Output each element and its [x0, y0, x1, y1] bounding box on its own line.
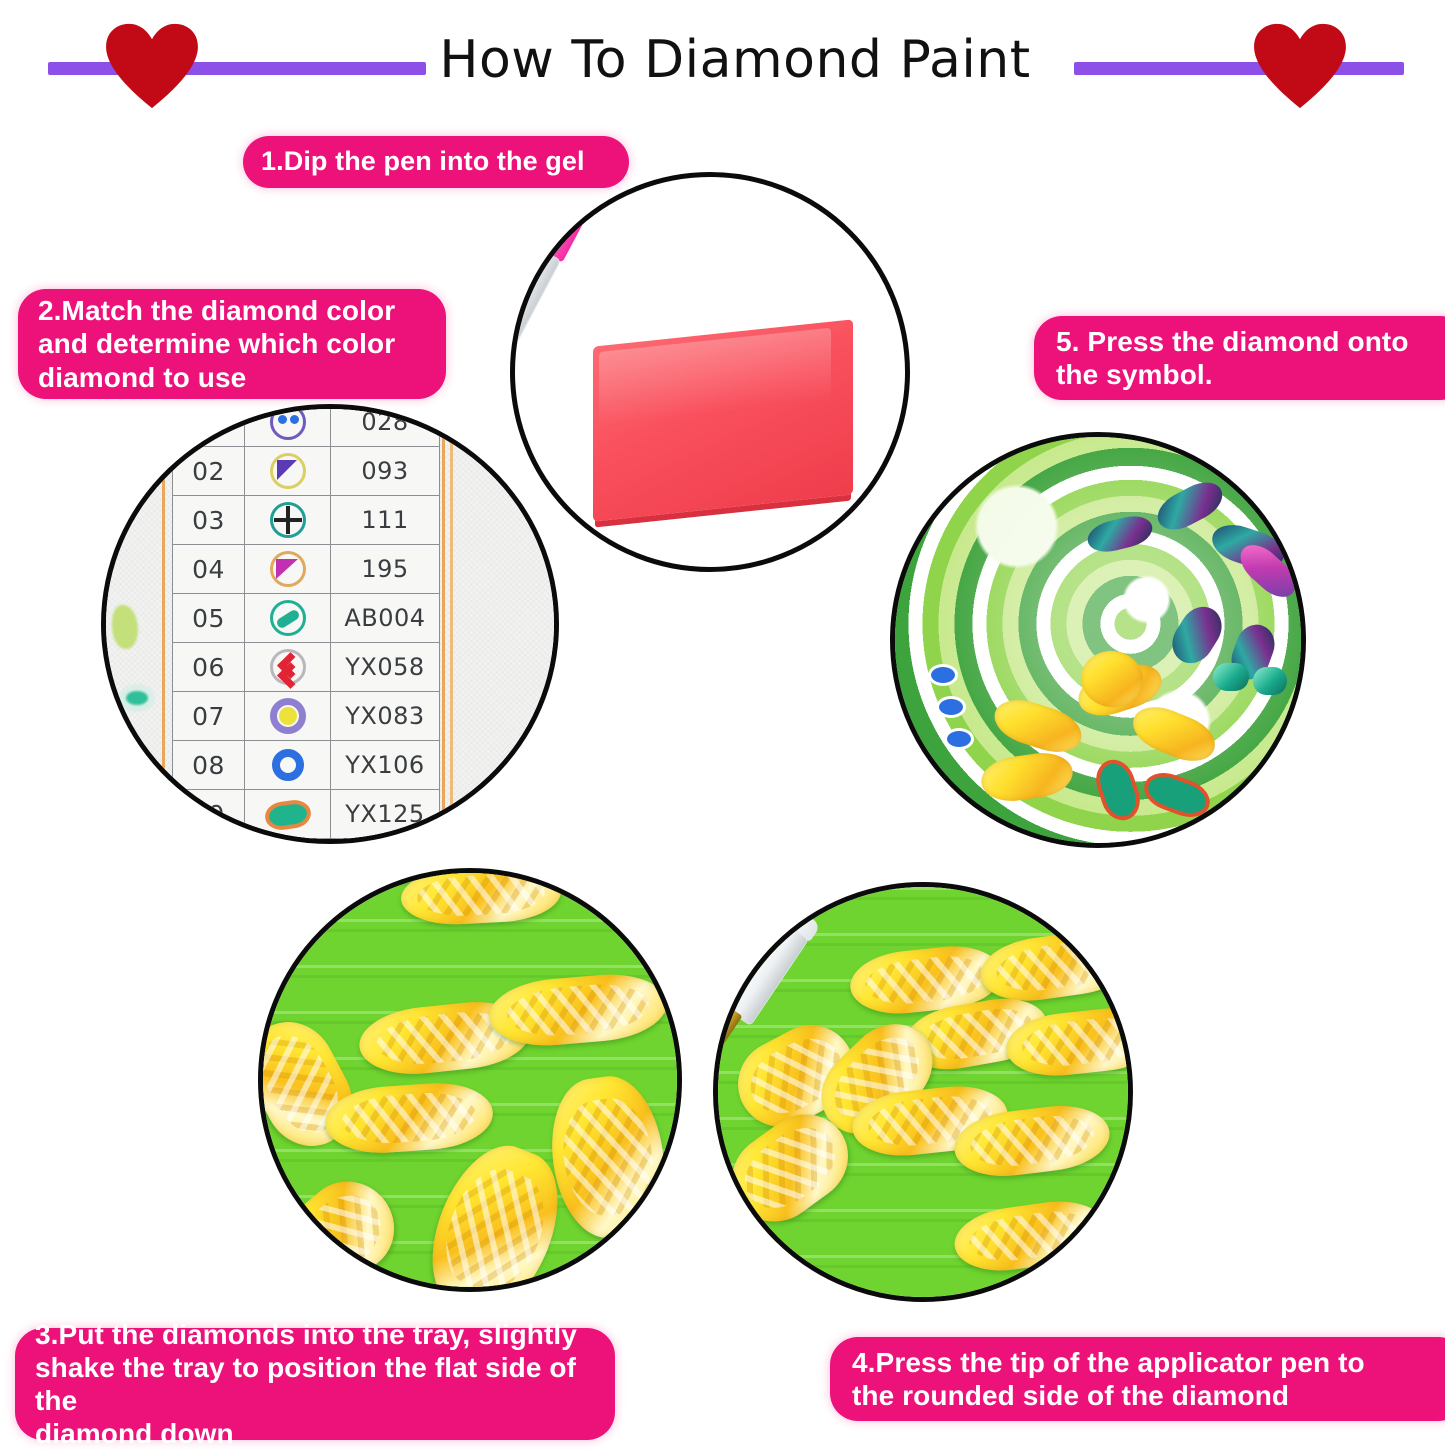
row-code: 093 [330, 447, 439, 496]
row-no: 09 [173, 790, 245, 839]
table-row: 04 195 [173, 545, 440, 594]
leaf-outline-icon [265, 791, 311, 837]
step-1-text: 1.Dip the pen into the gel [261, 146, 585, 178]
row-symbol [245, 839, 331, 845]
tray-photo [258, 868, 682, 1292]
infographic-canvas: How To Diamond Paint [0, 0, 1445, 1445]
donut-circle-icon [265, 742, 311, 788]
triangle-circle-icon [265, 448, 311, 494]
step-5-label: 5. Press the diamond onto the symbol. [1034, 316, 1445, 400]
row-no [173, 404, 245, 447]
step-4-text: 4.Press the tip of the applicator pen to… [852, 1346, 1365, 1412]
step-4-line-1: 4.Press the tip of the applicator pen to [852, 1346, 1365, 1379]
pill-circle-icon [265, 595, 311, 641]
row-code: YX058 [330, 643, 439, 692]
step-4-label: 4.Press the tip of the applicator pen to… [830, 1337, 1445, 1421]
row-symbol [245, 545, 331, 594]
step-4-line-2: the rounded side of the diamond [852, 1379, 1365, 1412]
row-symbol [245, 447, 331, 496]
applicator-pen [510, 172, 596, 404]
row-code: 028 [330, 404, 439, 447]
gel-photo [510, 172, 910, 572]
header-rule-right [1074, 62, 1404, 75]
table-row: 09 YX125 [173, 790, 440, 839]
row-symbol [245, 692, 331, 741]
placed-gem [1213, 663, 1249, 691]
placed-gem [1253, 667, 1287, 695]
symbol-photo [890, 432, 1306, 848]
partial-symbol-icon [265, 840, 311, 844]
color-code-table: 028 02 093 03 [172, 404, 440, 844]
step-2-line-1: 2.Match the diamond color [38, 294, 395, 327]
row-no: 08 [173, 741, 245, 790]
row-no: 06 [173, 643, 245, 692]
dot-in-ring-icon [265, 693, 311, 739]
step-3-line-3: diamond down [35, 1417, 595, 1450]
row-no: 03 [173, 496, 245, 545]
sheet-margin-line-left [162, 404, 165, 844]
table-row: 06 YX058 [173, 643, 440, 692]
step-5-text: 5. Press the diamond onto the symbol. [1056, 325, 1409, 391]
row-no: 05 [173, 594, 245, 643]
color-chart-photo: 028 02 093 03 [101, 404, 559, 844]
row-symbol [245, 404, 331, 447]
table-row [173, 839, 440, 845]
step-3-line-1: 3.Put the diamonds into the tray, slight… [35, 1318, 595, 1351]
table-row: 05 AB004 [173, 594, 440, 643]
step-2-line-2: and determine which color [38, 327, 395, 360]
step-5-line-2: the symbol. [1056, 358, 1409, 391]
gel-square [593, 319, 853, 521]
row-symbol [245, 496, 331, 545]
step-2-text: 2.Match the diamond color and determine … [38, 294, 395, 393]
row-no: 07 [173, 692, 245, 741]
row-no: 04 [173, 545, 245, 594]
canvas-print-blob-teal [120, 685, 154, 711]
row-symbol [245, 643, 331, 692]
page-title: How To Diamond Paint [410, 30, 1060, 90]
row-code: YX125 [330, 790, 439, 839]
row-code [330, 839, 439, 845]
plus-circle-icon [265, 497, 311, 543]
step-3-text: 3.Put the diamonds into the tray, slight… [35, 1318, 595, 1450]
row-code: YX106 [330, 741, 439, 790]
table-row: 07 YX083 [173, 692, 440, 741]
table-row: 08 YX106 [173, 741, 440, 790]
sheet-margin-line-right-2 [450, 404, 453, 844]
pen-tray-photo [713, 882, 1133, 1302]
row-code: YX083 [330, 692, 439, 741]
step-3-label: 3.Put the diamonds into the tray, slight… [15, 1328, 615, 1440]
table-row: 028 [173, 404, 440, 447]
table-row: 03 111 [173, 496, 440, 545]
step-2-line-3: diamond to use [38, 361, 395, 394]
row-code: AB004 [330, 594, 439, 643]
step-2-label: 2.Match the diamond color and determine … [18, 289, 446, 399]
heart-icon-right [1252, 22, 1348, 110]
row-symbol [245, 741, 331, 790]
chevron-circle-icon [265, 644, 311, 690]
double-dot-circle-icon [265, 404, 311, 445]
step-1-label: 1.Dip the pen into the gel [243, 136, 629, 188]
heart-icon-left [104, 22, 200, 110]
sheet-margin-line-right [442, 404, 445, 844]
color-code-table-body: 028 02 093 03 [173, 404, 440, 844]
row-symbol [245, 594, 331, 643]
row-no: 02 [173, 447, 245, 496]
step-5-line-1: 5. Press the diamond onto [1056, 325, 1409, 358]
row-code: 195 [330, 545, 439, 594]
step-3-line-2: shake the tray to position the flat side… [35, 1351, 595, 1417]
row-symbol [245, 790, 331, 839]
triangle-circle-icon [265, 546, 311, 592]
row-code: 111 [330, 496, 439, 545]
row-no [173, 839, 245, 845]
table-row: 02 093 [173, 447, 440, 496]
